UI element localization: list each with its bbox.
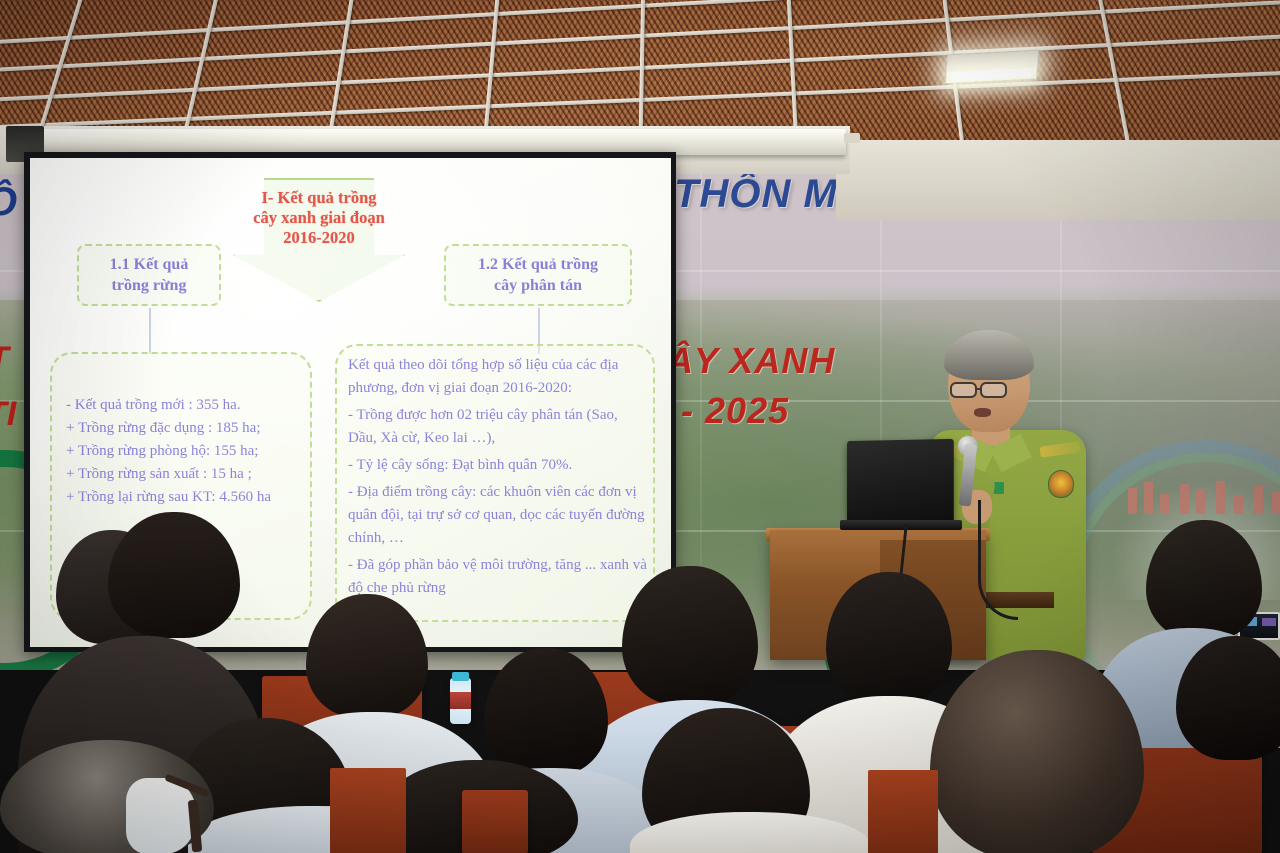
slide-title-text: I- Kết quả trồng cây xanh giai đoạn 2016…	[233, 188, 405, 248]
fluorescent-ceiling-light	[945, 50, 1040, 85]
banner-left-fragment-red-1: T	[0, 340, 9, 379]
slide-tag-1-1: 1.1 Kết quả trồng rừng	[77, 244, 221, 306]
speaker-glasses-left-lens	[950, 382, 977, 398]
tag-1-1-line-2: trồng rừng	[112, 277, 187, 294]
wall-soffit-right	[836, 140, 1280, 220]
slide-connector-left	[149, 308, 151, 354]
left-line-1: - Kết quả trồng mới : 355 ha.	[66, 394, 316, 417]
speaker-shoulder-badge	[1048, 470, 1074, 498]
tag-1-2-line-1: 1.2 Kết quả trồng	[478, 256, 598, 273]
banner-left-fragment-blue: Ô	[0, 180, 17, 225]
face-mask	[126, 778, 196, 853]
slide-tag-1-2: 1.2 Kết quả trồng cây phân tán	[444, 244, 632, 306]
speaker-glasses-bridge	[977, 388, 982, 390]
laptop-base	[840, 520, 962, 530]
left-line-2: + Trồng rừng đặc dụng : 185 ha;	[66, 417, 316, 440]
chair	[462, 790, 528, 853]
right-para-3: - Tỷ lệ cây sống: Đạt bình quân 70%.	[348, 454, 650, 477]
speaker-mouth	[974, 408, 991, 417]
photo-scene: NG THÔN MỚI TỈNH ĐỒNG NAI G CÂY XANH 21 …	[0, 0, 1280, 853]
bottle-label	[450, 692, 471, 709]
tag-1-2-line-2: cây phân tán	[494, 277, 582, 294]
monitor-pixel-block	[1262, 618, 1276, 626]
speaker-glasses-right-lens	[980, 382, 1007, 398]
laptop-screen	[847, 439, 954, 525]
slide-left-body: - Kết quả trồng mới : 355 ha. + Trồng rừ…	[66, 394, 316, 509]
bottle-cap	[452, 672, 469, 681]
slide-right-body: Kết quả theo dõi tổng hợp số liệu của cá…	[348, 354, 650, 604]
banner-emblem-bars	[1128, 480, 1280, 514]
chair-back-slat	[330, 768, 406, 853]
right-para-2: - Trồng được hơn 02 triệu cây phân tán (…	[348, 404, 650, 450]
left-line-4: + Trồng rừng sản xuất : 15 ha ;	[66, 463, 316, 486]
banner-headline-red: G CÂY XANH	[600, 340, 1200, 382]
slide-title-line-2: cây xanh giai đoạn	[233, 208, 405, 228]
ceiling	[0, 0, 1280, 140]
slide-title-line-3: 2016-2020	[233, 228, 405, 248]
chair-back-slat	[868, 770, 938, 853]
right-para-1: Kết quả theo dõi tổng hợp số liệu của cá…	[348, 354, 650, 400]
right-para-5: - Đã góp phần bảo vệ môi trường, tăng ..…	[348, 554, 650, 600]
banner-year-range: 21 - 2025	[628, 390, 1228, 432]
power-cable	[978, 500, 1018, 620]
banner-left-fragment-red-2: TI	[0, 395, 16, 434]
slide-title-line-1: I- Kết quả trồng	[233, 188, 405, 208]
left-line-5: + Trồng lại rừng sau KT: 4.560 ha	[66, 486, 316, 509]
left-line-3: + Trồng rừng phòng hộ: 155 ha;	[66, 440, 316, 463]
right-para-4: - Địa điểm trồng cây: các khuôn viên các…	[348, 481, 650, 550]
tag-1-1-line-1: 1.1 Kết quả	[110, 256, 189, 273]
slide-title-arrow: I- Kết quả trồng cây xanh giai đoạn 2016…	[233, 178, 405, 302]
